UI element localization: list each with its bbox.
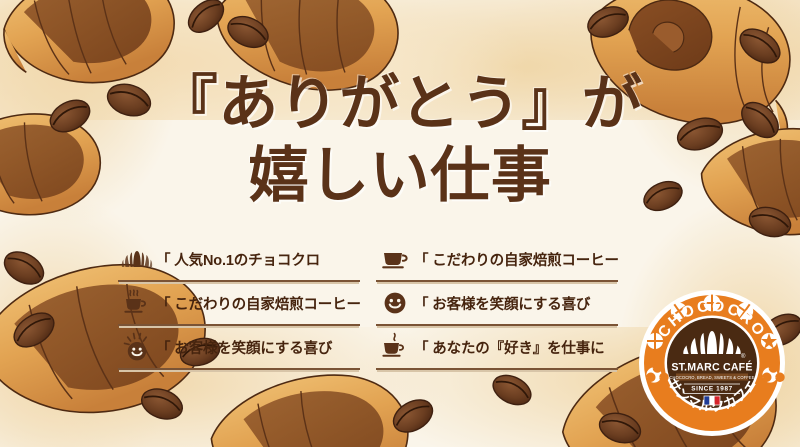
coffee-cup-steam-icon bbox=[118, 286, 156, 320]
feature-item-3: 「 お客様を笑顔にする喜び bbox=[376, 282, 618, 326]
banner-root: 『ありがとう』が 嬉しい仕事 「 人気No.1の bbox=[0, 0, 800, 447]
feature-item-1: 「 こだわりの自家焙煎コーヒー bbox=[376, 238, 618, 282]
logo-since: SINCE 1987 bbox=[691, 386, 733, 393]
feature-label-1: 「 こだわりの自家焙煎コーヒー bbox=[414, 249, 619, 270]
background-wash-left bbox=[0, 0, 180, 447]
logo-tagline: CHOCOCRO, BREAD, SWEETS & COFFEE bbox=[669, 375, 754, 380]
feature-item-5: 「 あなたの『好き』を仕事に bbox=[376, 326, 618, 370]
feature-label-3: 「 お客様を笑顔にする喜び bbox=[414, 293, 590, 314]
feature-item-0: 「 人気No.1のチョコクロ bbox=[118, 238, 360, 282]
feature-label-4: 「 お客様を笑顔にする喜び bbox=[156, 337, 332, 358]
coffee-cup-steam-icon bbox=[376, 330, 414, 364]
french-flag-icon bbox=[704, 396, 720, 405]
registered-mark-icon: ® bbox=[741, 353, 746, 360]
coffee-cup-icon bbox=[376, 242, 414, 276]
feature-label-5: 「 あなたの『好き』を仕事に bbox=[414, 337, 605, 358]
croissant-icon bbox=[118, 242, 156, 276]
feature-label-0: 「 人気No.1のチョコクロ bbox=[156, 249, 320, 270]
feature-item-4: 「 お客様を笑顔にする喜び bbox=[118, 326, 360, 370]
feature-list: 「 人気No.1のチョコクロ 「 こだわりの自家焙煎コーヒー bbox=[118, 238, 618, 370]
feature-item-2: 「 こだわりの自家焙煎コーヒー bbox=[118, 282, 360, 326]
smile-sun-icon bbox=[118, 330, 156, 364]
st-marc-cafe-logo[interactable]: CHOCOCRO サンマルクカフェ ® ST.MARC CAFÉ CHOC bbox=[638, 289, 786, 437]
headline-line-1: 『ありがとう』が bbox=[0, 72, 800, 136]
logo-brand-name: ST.MARC CAFÉ bbox=[671, 361, 752, 374]
headline-line-2: 嬉しい仕事 bbox=[0, 144, 800, 208]
headline: 『ありがとう』が 嬉しい仕事 bbox=[0, 72, 800, 207]
feature-label-2: 「 こだわりの自家焙煎コーヒー bbox=[156, 293, 361, 314]
smile-face-icon bbox=[376, 286, 414, 320]
